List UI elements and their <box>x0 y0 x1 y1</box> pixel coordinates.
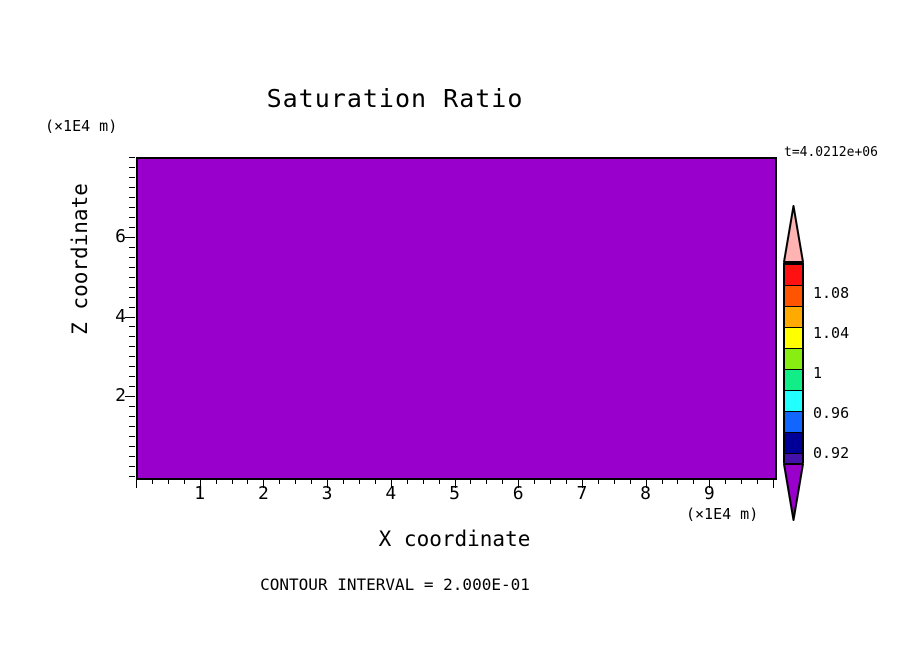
y-axis-unit-label: (×1E4 m) <box>45 117 117 135</box>
y-axis-tick <box>129 247 135 248</box>
colorbar-tick-label: 1.08 <box>813 284 849 302</box>
y-axis-tick <box>129 217 135 218</box>
x-axis-tick <box>279 478 280 484</box>
x-axis-tick <box>502 478 503 484</box>
y-axis-tick <box>129 336 135 337</box>
x-axis-tick <box>550 478 551 484</box>
y-axis-tick <box>129 436 135 437</box>
colorbar-band <box>785 348 802 369</box>
x-axis-tick <box>423 478 424 484</box>
x-axis-tick <box>614 478 615 484</box>
y-axis-tick <box>129 426 135 427</box>
y-axis-tick <box>125 237 135 238</box>
y-axis-tick <box>129 356 135 357</box>
x-axis-tick <box>359 478 360 484</box>
x-axis-tick <box>470 478 471 484</box>
x-axis-tick <box>168 478 169 484</box>
y-axis-tick <box>129 197 135 198</box>
y-axis-tick <box>125 317 135 318</box>
x-axis-unit-label: (×1E4 m) <box>686 505 758 523</box>
y-axis-tick-label: 4 <box>86 306 126 327</box>
y-axis-tick <box>129 177 135 178</box>
x-axis-tick <box>439 478 440 484</box>
x-axis-tick <box>136 478 137 488</box>
x-axis-tick <box>184 478 185 484</box>
y-axis-tick <box>129 227 135 228</box>
x-axis-tick <box>311 478 312 484</box>
x-axis-title: X coordinate <box>136 527 773 551</box>
y-axis-tick <box>129 366 135 367</box>
x-axis-tick <box>566 478 567 484</box>
x-axis-tick <box>677 478 678 484</box>
colorbar[interactable]: 1.081.0410.960.92 <box>780 205 810 515</box>
x-axis-tick <box>725 478 726 484</box>
y-axis-tick <box>129 386 135 387</box>
colorbar-band <box>785 265 802 285</box>
colorbar-band <box>785 285 802 306</box>
colorbar-band <box>785 369 802 390</box>
x-axis-tick <box>582 478 583 488</box>
x-axis-tick <box>327 478 328 488</box>
y-axis-title: Z coordinate <box>68 159 92 359</box>
y-axis-tick <box>129 466 135 467</box>
x-axis-tick <box>216 478 217 484</box>
x-axis-tick <box>598 478 599 484</box>
x-axis-tick <box>741 478 742 484</box>
y-axis-tick <box>129 297 135 298</box>
x-axis-tick <box>375 478 376 484</box>
colorbar-top-cap-icon <box>783 205 804 263</box>
x-axis-tick <box>407 478 408 484</box>
y-axis-tick <box>129 157 135 158</box>
x-axis-tick <box>662 478 663 484</box>
contour-plot-area[interactable] <box>136 157 777 480</box>
contour-field-canvas <box>138 159 775 478</box>
x-axis-tick <box>630 478 631 484</box>
x-axis-tick <box>486 478 487 484</box>
contour-interval-caption: CONTOUR INTERVAL = 2.000E-01 <box>0 575 790 594</box>
colorbar-tick-label: 1.04 <box>813 324 849 342</box>
y-axis-tick <box>129 346 135 347</box>
colorbar-tick-label: 1 <box>813 364 822 382</box>
colorbar-band <box>785 327 802 348</box>
y-axis-tick <box>129 406 135 407</box>
x-axis-tick <box>518 478 519 488</box>
y-axis-tick <box>129 376 135 377</box>
x-axis-tick <box>152 478 153 484</box>
x-axis-tick <box>693 478 694 484</box>
x-axis-tick <box>455 478 456 488</box>
colorbar-bands <box>783 263 804 463</box>
x-axis-tick <box>295 478 296 484</box>
colorbar-tick-label: 0.96 <box>813 404 849 422</box>
y-axis-tick <box>129 446 135 447</box>
colorbar-bottom-cap-icon <box>783 463 804 521</box>
colorbar-band <box>785 411 802 432</box>
y-axis-tick <box>129 476 135 477</box>
y-axis-tick <box>129 207 135 208</box>
x-axis-tick <box>247 478 248 484</box>
y-axis-tick <box>129 307 135 308</box>
y-axis-tick-label: 6 <box>86 226 126 247</box>
y-axis-tick <box>129 416 135 417</box>
y-axis-tick <box>129 267 135 268</box>
x-axis-tick <box>200 478 201 488</box>
colorbar-band <box>785 432 802 453</box>
y-axis-tick <box>125 396 135 397</box>
x-axis-tick <box>709 478 710 488</box>
x-axis-tick <box>343 478 344 484</box>
colorbar-tick-label: 0.92 <box>813 444 849 462</box>
time-annotation: t=4.0212e+06 <box>784 145 878 160</box>
x-axis-tick <box>646 478 647 488</box>
x-axis-tick <box>757 478 758 484</box>
x-axis-tick <box>232 478 233 484</box>
y-axis-tick-label: 2 <box>86 385 126 406</box>
colorbar-band <box>785 306 802 327</box>
y-axis-tick <box>129 326 135 327</box>
x-axis-tick <box>773 478 774 488</box>
y-axis-tick <box>129 257 135 258</box>
y-axis-tick <box>129 456 135 457</box>
y-axis-tick <box>129 277 135 278</box>
y-axis-tick <box>129 287 135 288</box>
page-title: Saturation Ratio <box>0 84 790 113</box>
y-axis-tick <box>129 167 135 168</box>
x-axis-tick <box>391 478 392 488</box>
colorbar-band <box>785 390 802 411</box>
y-axis-tick <box>129 187 135 188</box>
x-axis-tick <box>534 478 535 484</box>
x-axis-tick <box>263 478 264 488</box>
